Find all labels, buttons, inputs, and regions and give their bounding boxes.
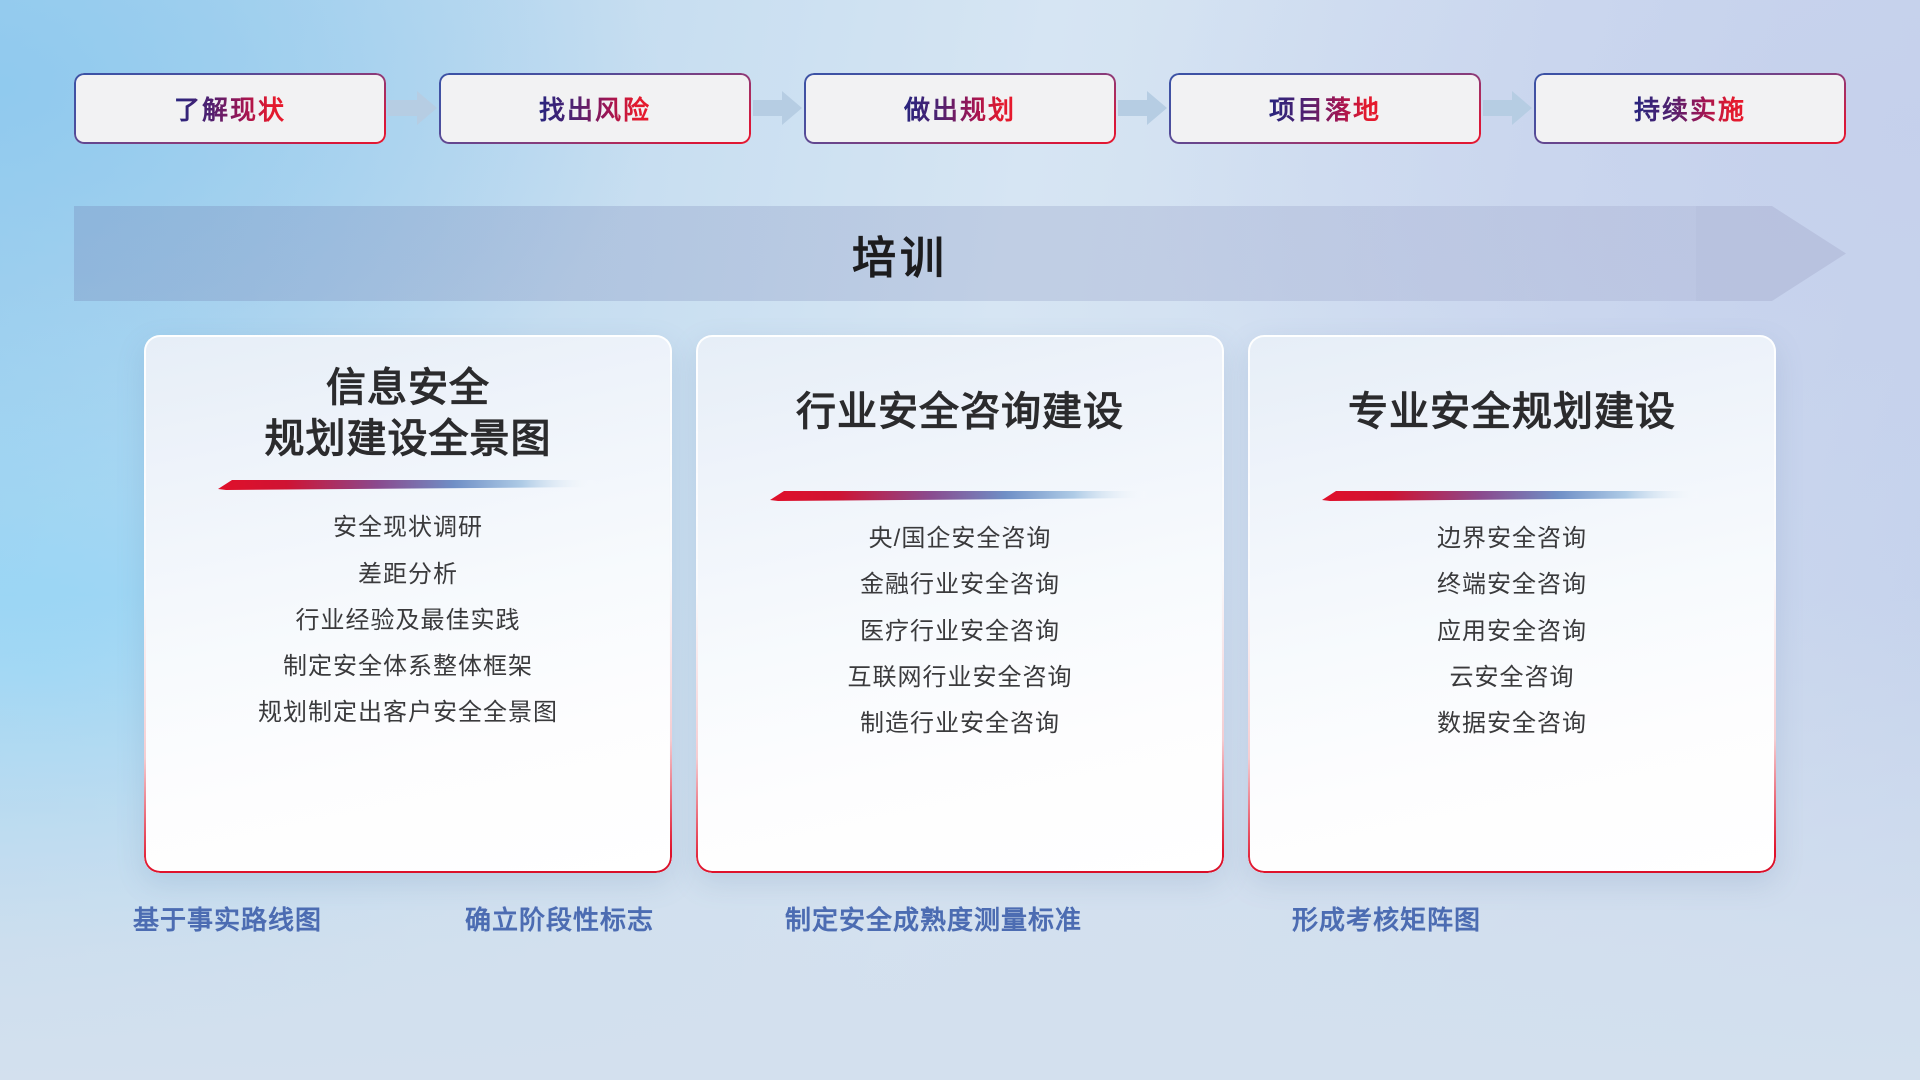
card-item-list: 央/国企安全咨询 金融行业安全咨询 医疗行业安全咨询 互联网行业安全咨询 制造行… bbox=[848, 520, 1073, 742]
right-arrow-icon bbox=[751, 88, 804, 128]
list-item: 制造行业安全咨询 bbox=[860, 705, 1060, 742]
band-title: 培训 bbox=[74, 206, 1846, 301]
right-arrow-icon bbox=[386, 88, 439, 128]
footer-label-milestone: 确立阶段性标志 bbox=[465, 900, 654, 937]
gradient-divider-icon bbox=[1322, 490, 1702, 502]
list-item: 行业经验及最佳实践 bbox=[296, 602, 521, 639]
card-industry-security-consulting[interactable]: 行业安全咨询建设 央/国企安全咨询 金融行业安全咨询 医疗行业安全咨询 互联网行… bbox=[696, 335, 1224, 873]
step-box-3[interactable]: 做出规划 bbox=[804, 73, 1116, 144]
step-label-2: 找出风险 bbox=[539, 90, 651, 127]
list-item: 央/国企安全咨询 bbox=[869, 520, 1052, 557]
card-information-security-panorama[interactable]: 信息安全 规划建设全景图 安全现状调研 差距分析 行业经验及最佳实践 制定安全体… bbox=[144, 335, 672, 873]
right-arrow-icon bbox=[1116, 88, 1169, 128]
gradient-divider-icon bbox=[770, 490, 1150, 502]
list-item: 应用安全咨询 bbox=[1437, 613, 1587, 650]
card-title: 专业安全规划建设 bbox=[1348, 387, 1676, 438]
list-item: 边界安全咨询 bbox=[1437, 520, 1587, 557]
card-professional-security-planning[interactable]: 专业安全规划建设 边界安全咨询 终端安全咨询 应用安全咨询 云安全咨询 数据安全… bbox=[1248, 335, 1776, 873]
footer-label-roadmap: 基于事实路线图 bbox=[133, 900, 322, 937]
footer-label-maturity: 制定安全成熟度测量标准 bbox=[785, 900, 1082, 937]
step-box-4[interactable]: 项目落地 bbox=[1169, 73, 1481, 144]
footer-label-row: 基于事实路线图 确立阶段性标志 制定安全成熟度测量标准 形成考核矩阵图 bbox=[0, 900, 1920, 970]
list-item: 安全现状调研 bbox=[333, 509, 483, 546]
step-box-5[interactable]: 持续实施 bbox=[1534, 73, 1846, 144]
list-item: 终端安全咨询 bbox=[1437, 566, 1587, 603]
step-label-5: 持续实施 bbox=[1634, 90, 1746, 127]
list-item: 互联网行业安全咨询 bbox=[848, 659, 1073, 696]
list-item: 数据安全咨询 bbox=[1437, 705, 1587, 742]
footer-label-matrix: 形成考核矩阵图 bbox=[1292, 900, 1481, 937]
card-item-list: 安全现状调研 差距分析 行业经验及最佳实践 制定安全体系整体框架 规划制定出客户… bbox=[258, 509, 558, 731]
list-item: 医疗行业安全咨询 bbox=[860, 613, 1060, 650]
card-title: 行业安全咨询建设 bbox=[796, 387, 1124, 438]
card-row: 信息安全 规划建设全景图 安全现状调研 差距分析 行业经验及最佳实践 制定安全体… bbox=[0, 335, 1920, 875]
process-step-row: 了解现状 找出风险 做出规划 项目落地 持续实施 bbox=[0, 66, 1920, 150]
card-item-list: 边界安全咨询 终端安全咨询 应用安全咨询 云安全咨询 数据安全咨询 bbox=[1437, 520, 1587, 742]
list-item: 制定安全体系整体框架 bbox=[283, 648, 533, 685]
list-item: 金融行业安全咨询 bbox=[860, 566, 1060, 603]
step-label-3: 做出规划 bbox=[904, 90, 1016, 127]
training-band: 培训 bbox=[74, 206, 1846, 301]
step-label-1: 了解现状 bbox=[174, 90, 286, 127]
list-item: 云安全咨询 bbox=[1450, 659, 1575, 696]
list-item: 规划制定出客户安全全景图 bbox=[258, 694, 558, 731]
right-arrow-icon bbox=[1481, 88, 1534, 128]
step-box-2[interactable]: 找出风险 bbox=[439, 73, 751, 144]
card-title: 信息安全 规划建设全景图 bbox=[265, 363, 552, 465]
step-label-4: 项目落地 bbox=[1269, 90, 1381, 127]
gradient-divider-icon bbox=[218, 479, 598, 491]
list-item: 差距分析 bbox=[358, 556, 458, 593]
step-box-1[interactable]: 了解现状 bbox=[74, 73, 386, 144]
